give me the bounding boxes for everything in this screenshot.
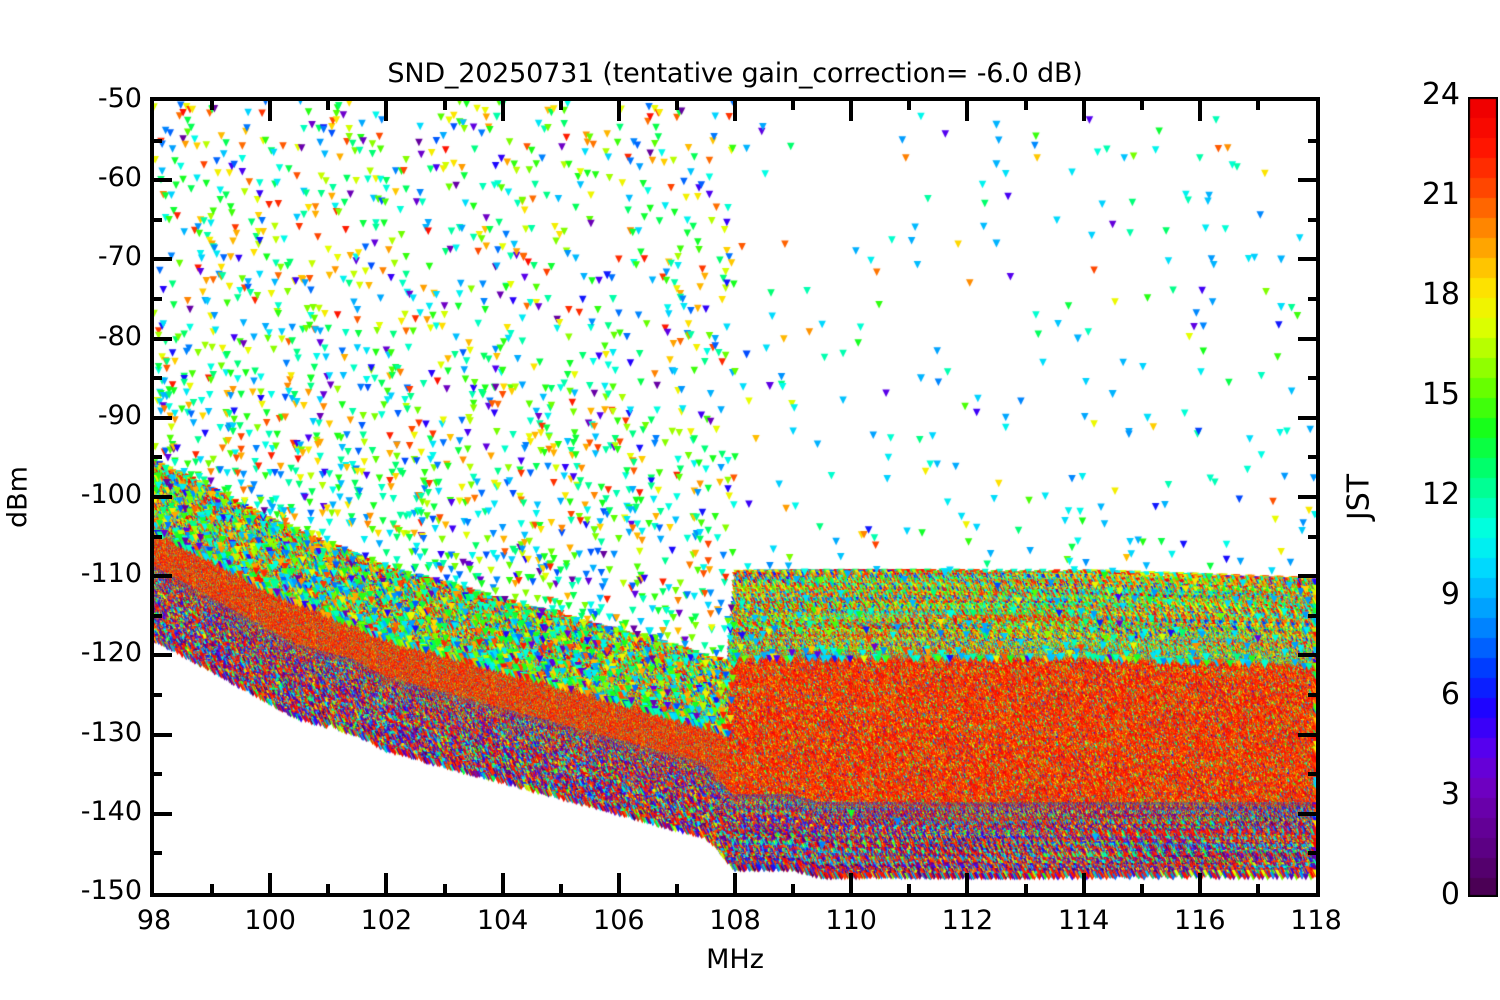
x-tick-label: 108 <box>709 905 761 936</box>
y-tick-right <box>1298 574 1320 578</box>
colorbar <box>1468 97 1498 897</box>
x-tick-minor-top <box>1024 97 1028 110</box>
colorbar-tick-label: 12 <box>1422 477 1460 512</box>
y-tick-right <box>1298 812 1320 816</box>
y-tick-left <box>150 574 172 578</box>
x-tick-minor-top <box>210 97 214 110</box>
x-tick-top <box>617 97 621 121</box>
x-tick-top <box>849 97 853 121</box>
x-tick-bottom <box>965 873 969 897</box>
x-tick-minor-bottom <box>1256 884 1260 897</box>
y-tick-label: -130 <box>81 717 142 748</box>
colorbar-tick-label: 15 <box>1422 377 1460 412</box>
x-tick-bottom <box>1198 873 1202 897</box>
x-tick-minor-top <box>326 97 330 110</box>
y-tick-minor-right <box>1308 376 1320 380</box>
y-tick-label: -150 <box>81 875 142 906</box>
x-tick-label: 100 <box>244 905 296 936</box>
y-tick-right <box>1298 337 1320 341</box>
y-tick-minor-right <box>1308 614 1320 618</box>
y-tick-label: -90 <box>98 400 142 431</box>
scatter-plot-canvas <box>154 101 1316 893</box>
y-tick-right <box>1298 416 1320 420</box>
x-tick-minor-bottom <box>443 884 447 897</box>
colorbar-tick-label: 0 <box>1441 877 1460 912</box>
x-tick-minor-bottom <box>675 884 679 897</box>
colorbar-axis-label: JST <box>1342 474 1377 520</box>
y-tick-right <box>1298 257 1320 261</box>
colorbar-tick-label: 18 <box>1422 277 1460 312</box>
y-tick-label: -120 <box>81 637 142 668</box>
x-tick-minor-bottom <box>1140 884 1144 897</box>
y-tick-left <box>150 495 172 499</box>
y-tick-label: -100 <box>81 479 142 510</box>
y-tick-right <box>1298 733 1320 737</box>
x-tick-bottom <box>384 873 388 897</box>
y-tick-minor-left <box>150 218 162 222</box>
y-tick-minor-left <box>150 851 162 855</box>
y-tick-minor-left <box>150 772 162 776</box>
x-tick-minor-top <box>443 97 447 110</box>
x-tick-minor-bottom <box>210 884 214 897</box>
x-tick-bottom <box>1082 873 1086 897</box>
x-tick-top <box>733 97 737 121</box>
y-tick-minor-right <box>1308 535 1320 539</box>
y-tick-minor-right <box>1308 139 1320 143</box>
x-tick-top <box>384 97 388 121</box>
x-tick-minor-bottom <box>1024 884 1028 897</box>
x-tick-top <box>268 97 272 121</box>
y-tick-left <box>150 337 172 341</box>
y-tick-minor-left <box>150 297 162 301</box>
y-tick-minor-left <box>150 139 162 143</box>
y-tick-minor-left <box>150 614 162 618</box>
y-tick-right <box>1298 495 1320 499</box>
y-tick-minor-right <box>1308 218 1320 222</box>
x-tick-minor-bottom <box>559 884 563 897</box>
y-tick-minor-right <box>1308 772 1320 776</box>
spectrum-plot-figure: SND_20250731 (tentative gain_correction=… <box>0 0 1500 1000</box>
y-tick-left <box>150 733 172 737</box>
y-tick-right <box>1298 653 1320 657</box>
y-tick-minor-left <box>150 535 162 539</box>
y-tick-minor-right <box>1308 455 1320 459</box>
x-tick-top <box>1198 97 1202 121</box>
x-tick-top <box>965 97 969 121</box>
x-tick-label: 104 <box>477 905 529 936</box>
x-tick-bottom <box>733 873 737 897</box>
y-tick-minor-left <box>150 455 162 459</box>
y-tick-minor-left <box>150 376 162 380</box>
x-tick-label: 112 <box>942 905 994 936</box>
x-tick-minor-top <box>675 97 679 110</box>
y-tick-minor-right <box>1308 851 1320 855</box>
y-tick-label: -140 <box>81 796 142 827</box>
colorbar-tick-label: 21 <box>1422 177 1460 212</box>
colorbar-tick-label: 6 <box>1441 677 1460 712</box>
colorbar-tick-label: 9 <box>1441 577 1460 612</box>
x-tick-bottom <box>268 873 272 897</box>
x-tick-minor-top <box>1256 97 1260 110</box>
x-tick-label: 114 <box>1058 905 1110 936</box>
x-tick-label: 116 <box>1174 905 1226 936</box>
y-axis-label: dBm <box>3 466 34 528</box>
y-tick-minor-left <box>150 693 162 697</box>
y-tick-left <box>150 812 172 816</box>
colorbar-tick-label: 3 <box>1441 777 1460 812</box>
x-tick-minor-top <box>791 97 795 110</box>
y-tick-left <box>150 416 172 420</box>
x-tick-minor-top <box>907 97 911 110</box>
x-tick-label: 106 <box>593 905 645 936</box>
x-tick-label: 118 <box>1290 905 1342 936</box>
colorbar-gradient <box>1468 97 1498 897</box>
y-tick-right <box>1298 178 1320 182</box>
x-tick-minor-top <box>559 97 563 110</box>
y-tick-left <box>150 178 172 182</box>
page-title: SND_20250731 (tentative gain_correction=… <box>150 58 1320 89</box>
x-tick-bottom <box>849 873 853 897</box>
y-tick-label: -110 <box>81 558 142 589</box>
x-tick-top <box>501 97 505 121</box>
x-tick-label: 98 <box>137 905 171 936</box>
y-tick-label: -50 <box>98 83 142 114</box>
x-tick-top <box>1082 97 1086 121</box>
colorbar-tick-label: 24 <box>1422 77 1460 112</box>
y-tick-label: -80 <box>98 321 142 352</box>
y-tick-left <box>150 257 172 261</box>
x-tick-bottom <box>617 873 621 897</box>
x-tick-minor-top <box>1140 97 1144 110</box>
x-tick-label: 102 <box>361 905 413 936</box>
y-tick-minor-right <box>1308 297 1320 301</box>
x-axis-label: MHz <box>706 944 764 975</box>
x-tick-label: 110 <box>825 905 877 936</box>
x-tick-minor-bottom <box>907 884 911 897</box>
x-tick-minor-bottom <box>791 884 795 897</box>
y-tick-left <box>150 653 172 657</box>
x-tick-minor-bottom <box>326 884 330 897</box>
y-tick-label: -70 <box>98 241 142 272</box>
x-tick-bottom <box>501 873 505 897</box>
y-tick-label: -60 <box>98 162 142 193</box>
y-tick-minor-right <box>1308 693 1320 697</box>
